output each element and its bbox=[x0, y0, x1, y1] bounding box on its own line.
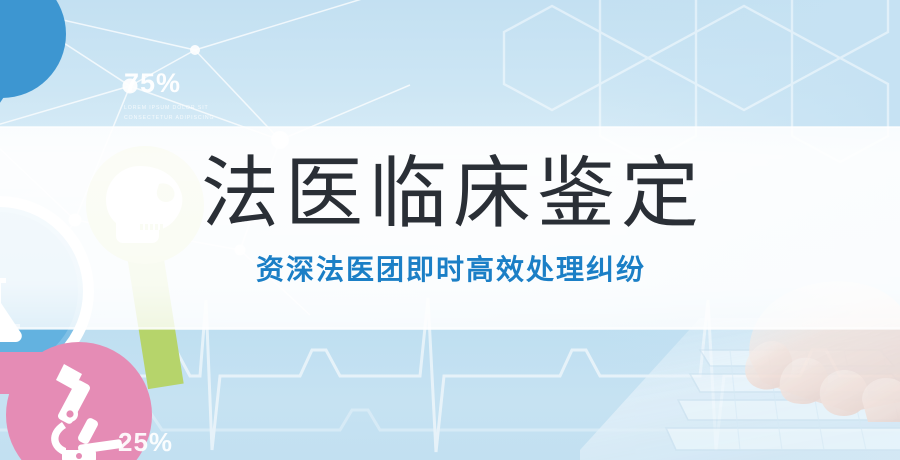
stat-75-caption-line1: LOREM IPSUM DOLOR SIT bbox=[124, 105, 209, 111]
stat-block-25: 25% bbox=[118, 429, 173, 455]
stat-block-75: 75% LOREM IPSUM DOLOR SIT CONSECTETUR AD… bbox=[124, 70, 304, 123]
headline-group: 法医临床鉴定 资深法医团即时高效处理纠纷 bbox=[0, 152, 900, 288]
stat-75-caption: LOREM IPSUM DOLOR SIT CONSECTETUR ADIPIS… bbox=[124, 104, 234, 123]
stat-75-value: 75% bbox=[124, 70, 304, 97]
page-subtitle: 资深法医团即时高效处理纠纷 bbox=[0, 248, 900, 288]
stat-75-caption-line2: CONSECTETUR ADIPISCING bbox=[124, 115, 214, 121]
band-edge-bottom bbox=[0, 327, 900, 330]
page-title: 法医临床鉴定 bbox=[0, 152, 900, 236]
hero-banner: 75% LOREM IPSUM DOLOR SIT CONSECTETUR AD… bbox=[0, 0, 900, 460]
